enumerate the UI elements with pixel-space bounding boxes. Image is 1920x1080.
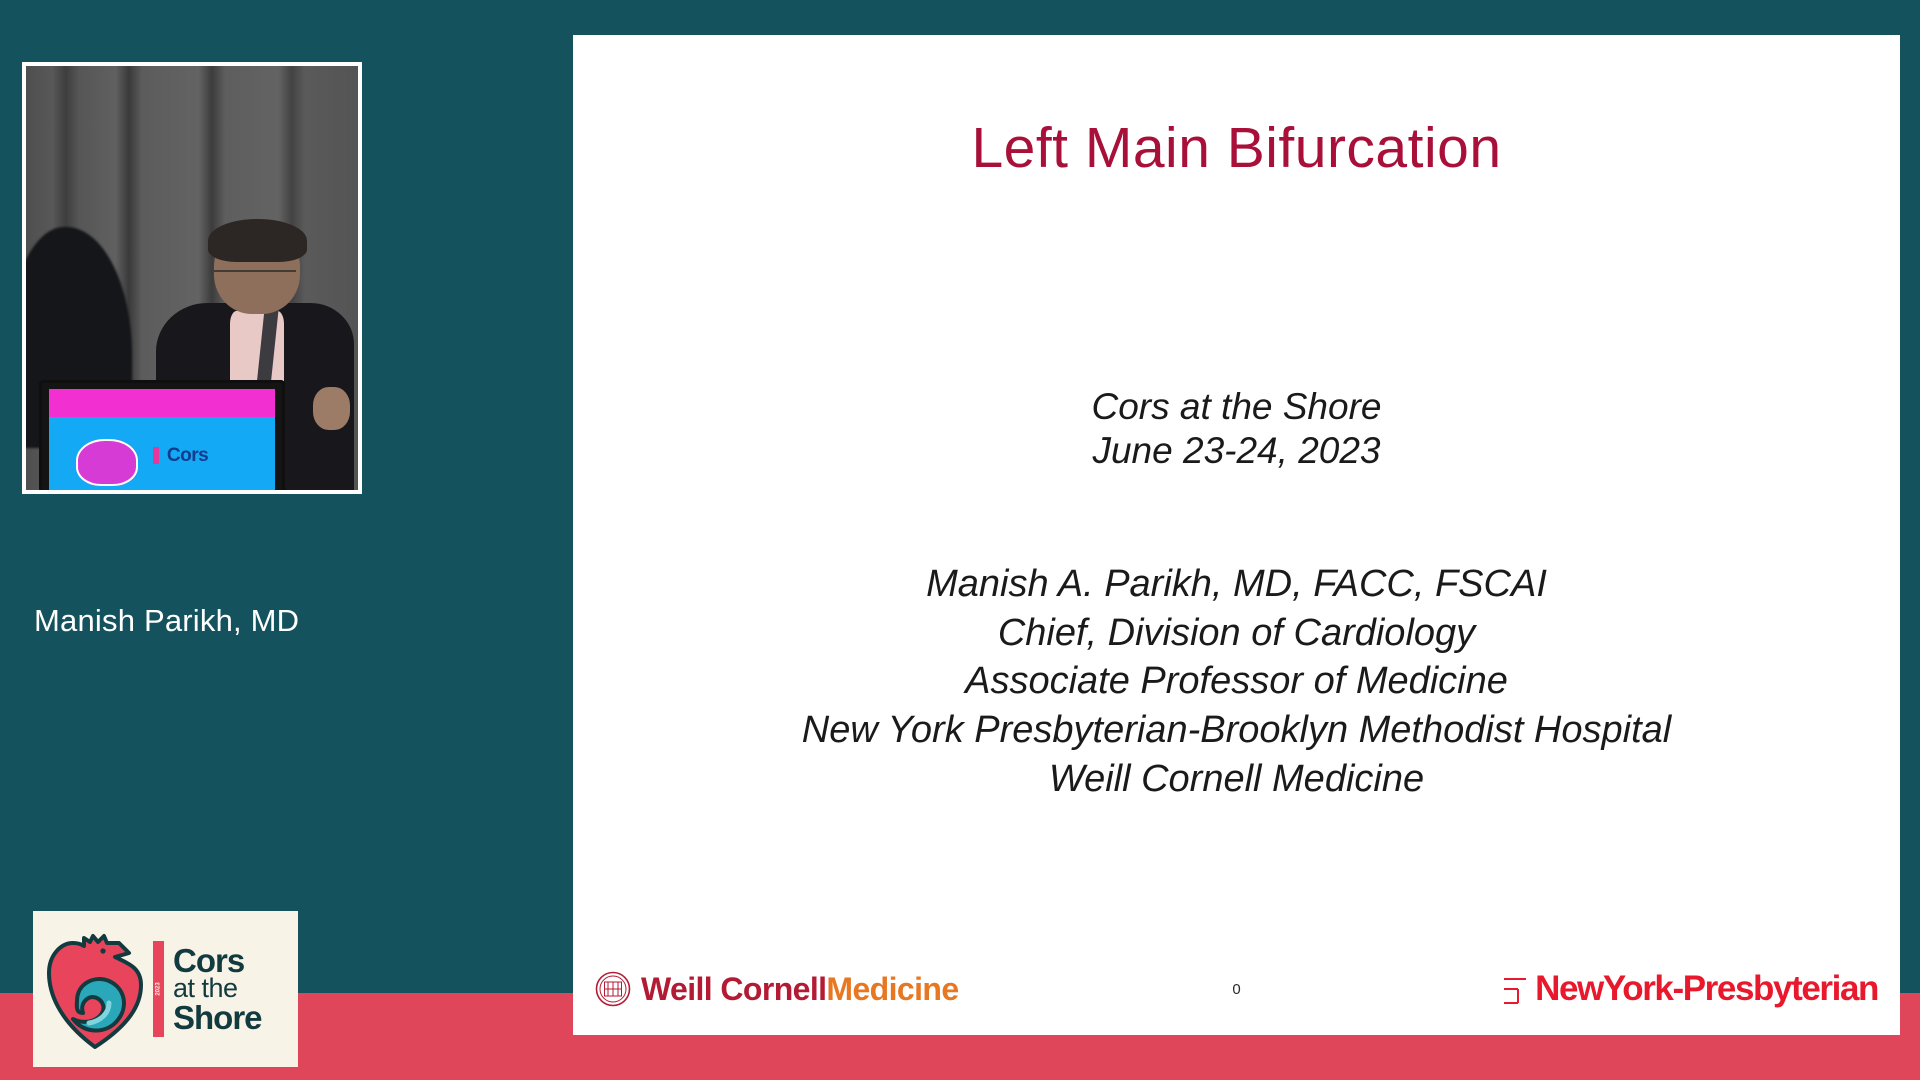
event-logo-card: 2023 Cors at the Shore	[33, 911, 298, 1067]
podium-accent-tick	[153, 447, 159, 464]
podium-heart-icon	[76, 439, 138, 486]
speaker-hand	[313, 387, 350, 430]
event-logo-line2: at the	[173, 976, 262, 1001]
presenter-name: Manish A. Parikh, MD, FACC, FSCAI	[573, 560, 1900, 609]
event-dates: June 23-24, 2023	[573, 429, 1900, 473]
presenter-hospital: New York Presbyterian-Brooklyn Methodist…	[573, 706, 1900, 755]
slide-footer: Weill CornellMedicine 0 NewYork-Presbyte…	[573, 943, 1900, 1035]
presenter-rank: Associate Professor of Medicine	[573, 657, 1900, 706]
event-logo-line1: Cors	[173, 945, 262, 976]
heart-wave-logo-icon	[43, 927, 147, 1051]
event-logo-line3: Shore	[173, 1002, 262, 1033]
presenter-role: Chief, Division of Cardiology	[573, 609, 1900, 658]
event-logo-year: 2023	[156, 982, 162, 995]
podium-screen-top-band	[49, 389, 274, 417]
podium-screen-label: Cors	[167, 445, 208, 467]
event-logo-wordmark: 2023 Cors at the Shore	[153, 941, 262, 1037]
podium: Cors	[39, 380, 285, 490]
speaker-hair	[208, 219, 307, 262]
speaker-glasses	[214, 270, 296, 284]
slide-title: Left Main Bifurcation	[573, 115, 1900, 181]
presentation-viewer: Cors Manish Parikh, MD 2023 Cors at the …	[0, 0, 1920, 1080]
event-info-block: Cors at the Shore June 23-24, 2023	[573, 385, 1900, 474]
slide[interactable]: Left Main Bifurcation Cors at the Shore …	[573, 35, 1900, 1035]
event-logo-year-bar: 2023	[153, 941, 164, 1037]
speaker-video-panel[interactable]: Cors	[22, 62, 362, 494]
event-name: Cors at the Shore	[573, 385, 1900, 429]
speaker-name-label: Manish Parikh, MD	[34, 603, 364, 639]
speaker-video-feed[interactable]: Cors	[26, 66, 358, 490]
presenter-block: Manish A. Parikh, MD, FACC, FSCAI Chief,…	[573, 560, 1900, 803]
slide-content: Left Main Bifurcation Cors at the Shore …	[573, 35, 1900, 943]
page-number: 0	[573, 981, 1900, 998]
presenter-school: Weill Cornell Medicine	[573, 755, 1900, 804]
